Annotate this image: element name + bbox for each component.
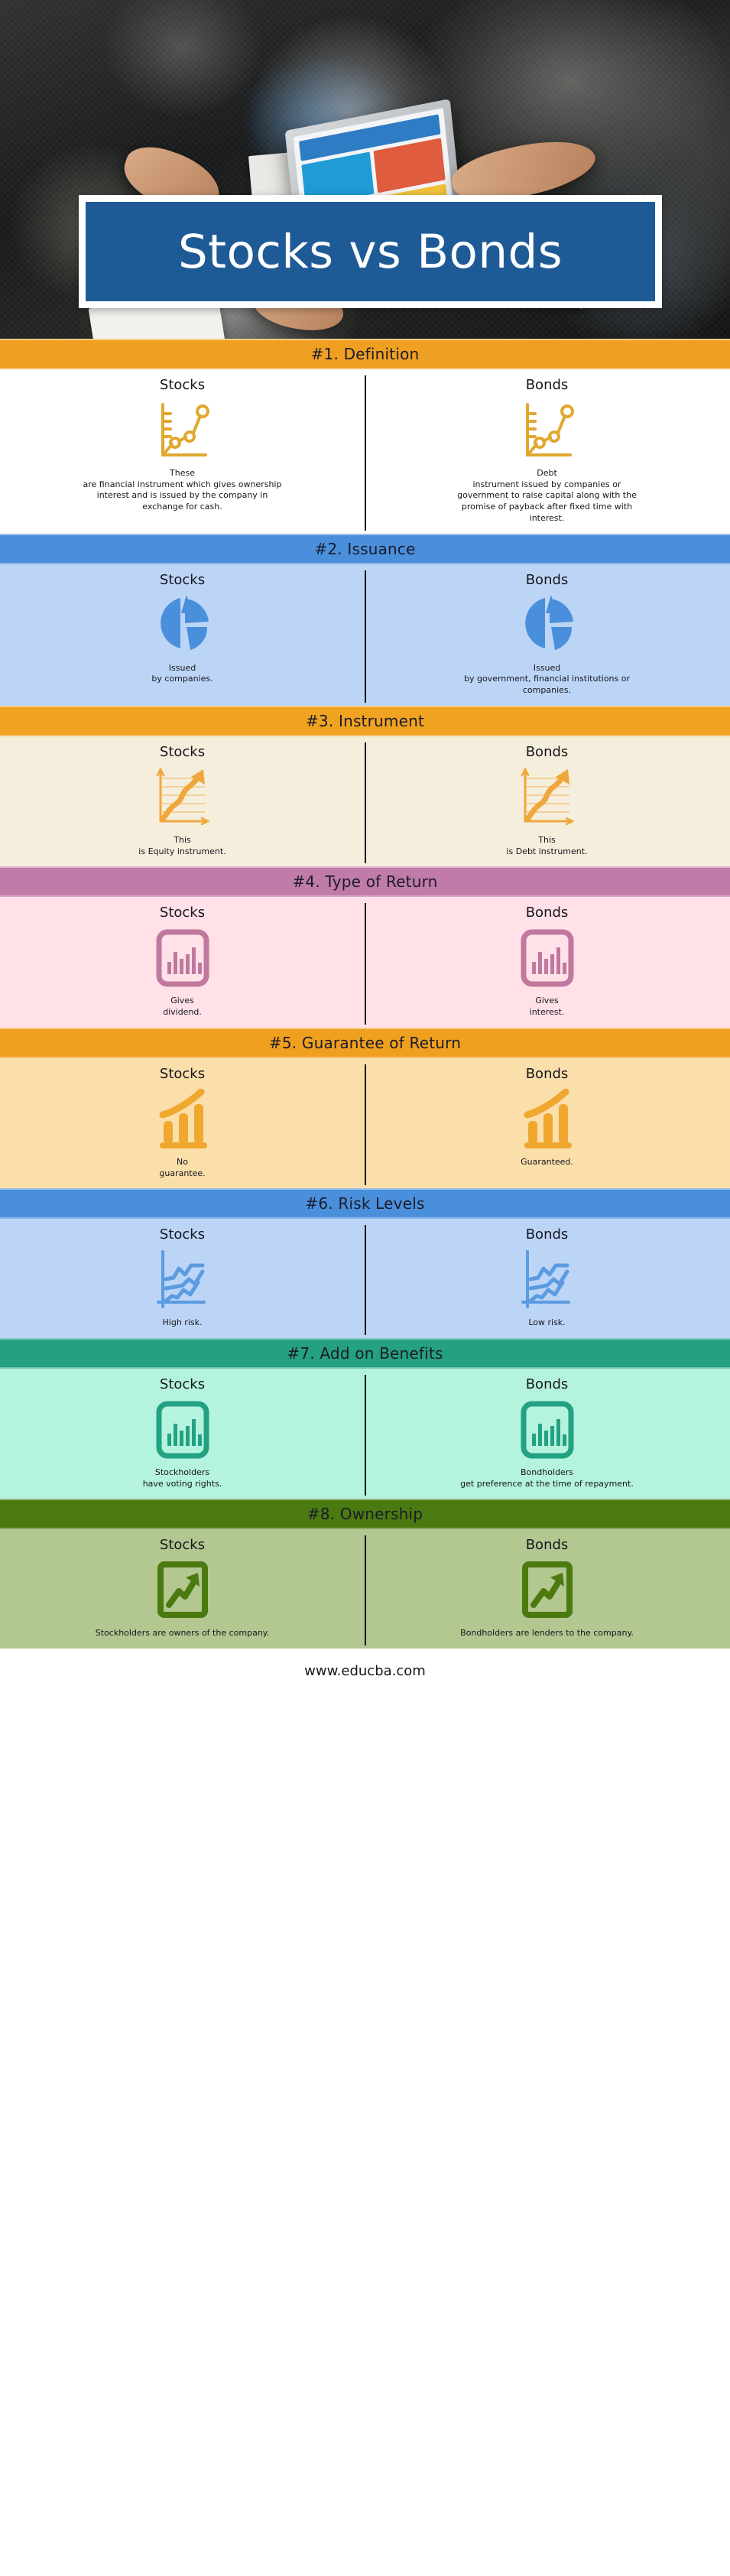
description-body: is Equity instrument. bbox=[138, 846, 225, 856]
description-lead: Debt bbox=[448, 468, 647, 479]
section-body: Stocks Thisis Equity instrument.Bonds Th… bbox=[0, 736, 730, 866]
comparison-column-bonds: Bonds Thisis Debt instrument. bbox=[365, 744, 729, 857]
pie-chart-exploded-icon bbox=[517, 593, 578, 658]
section-header-band: #6. Risk Levels bbox=[0, 1188, 730, 1219]
section-header-label: #3. Instrument bbox=[306, 712, 424, 730]
column-title: Bonds bbox=[526, 1537, 569, 1553]
section-header-label: #6. Risk Levels bbox=[305, 1194, 424, 1213]
section-s7: #7. Add on BenefitsStocks Stockholdersha… bbox=[0, 1338, 730, 1499]
section-s2: #2. IssuanceStocks Issuedby companies.Bo… bbox=[0, 534, 730, 706]
section-body: Stocks Givesdividend.Bonds Givesinterest… bbox=[0, 897, 730, 1027]
center-divider bbox=[365, 742, 366, 863]
section-body: Stocks Noguarantee.Bonds Guaranteed. bbox=[0, 1058, 730, 1188]
growth-arrow-grid-icon bbox=[153, 765, 213, 830]
comparison-column-bonds: Bonds Bondholders are lenders to the com… bbox=[365, 1537, 729, 1639]
section-header-label: #7. Add on Benefits bbox=[287, 1344, 443, 1363]
column-title: Bonds bbox=[526, 572, 569, 588]
sections-container: #1. DefinitionStocks Theseare financial … bbox=[0, 339, 730, 1649]
column-title: Bonds bbox=[526, 905, 569, 921]
section-s5: #5. Guarantee of ReturnStocks Noguarante… bbox=[0, 1028, 730, 1188]
column-title: Bonds bbox=[526, 377, 569, 393]
page-title: Stocks vs Bonds bbox=[178, 229, 563, 275]
center-divider bbox=[365, 903, 366, 1024]
comparison-column-stocks: Stocks Noguarantee. bbox=[0, 1066, 365, 1179]
section-body: Stocks Issuedby companies.Bonds Issuedby… bbox=[0, 564, 730, 706]
section-body: Stocks Stockholdershave voting rights.Bo… bbox=[0, 1369, 730, 1499]
line-chart-points-icon bbox=[520, 400, 575, 461]
pie-chart-exploded-icon bbox=[517, 593, 578, 658]
description-lead: Issued bbox=[448, 663, 647, 674]
growth-arrow-grid-icon bbox=[517, 765, 577, 830]
footer-url: www.educba.com bbox=[304, 1663, 426, 1679]
description-body: instrument issued by companies or govern… bbox=[457, 479, 637, 523]
framed-bar-chart-icon bbox=[154, 928, 211, 988]
description-body: High risk. bbox=[163, 1317, 203, 1327]
description-body: are financial instrument which gives own… bbox=[83, 479, 282, 512]
comparison-column-bonds: Bonds Low risk. bbox=[365, 1226, 729, 1329]
comparison-column-bonds: Bonds Issuedby government, financial ins… bbox=[365, 572, 729, 697]
description-body: guarantee. bbox=[159, 1168, 205, 1178]
comparison-column-bonds: Bonds Debtinstrument issued by companies… bbox=[365, 377, 729, 525]
column-description: Noguarantee. bbox=[159, 1157, 205, 1179]
column-title: Stocks bbox=[160, 1537, 205, 1553]
framed-trend-arrow-icon bbox=[520, 1558, 575, 1623]
column-title: Stocks bbox=[160, 1226, 205, 1243]
column-description: Givesdividend. bbox=[163, 996, 202, 1018]
rising-bars-curve-icon bbox=[518, 1089, 576, 1150]
framed-bar-chart-icon bbox=[519, 925, 576, 991]
line-chart-points-icon bbox=[520, 398, 575, 463]
title-frame: Stocks vs Bonds bbox=[79, 195, 662, 308]
section-header-band: #5. Guarantee of Return bbox=[0, 1028, 730, 1058]
column-description: Givesinterest. bbox=[530, 996, 565, 1018]
comparison-column-stocks: Stocks Theseare financial instrument whi… bbox=[0, 377, 365, 525]
column-title: Bonds bbox=[526, 744, 569, 760]
column-description: High risk. bbox=[163, 1317, 203, 1329]
framed-bar-chart-icon bbox=[519, 1397, 576, 1463]
description-lead: This bbox=[138, 835, 225, 846]
framed-bar-chart-icon bbox=[154, 1400, 211, 1460]
description-lead: Gives bbox=[530, 996, 565, 1007]
rising-bars-curve-icon bbox=[154, 1087, 212, 1152]
description-body: interest. bbox=[530, 1007, 565, 1017]
section-s1: #1. DefinitionStocks Theseare financial … bbox=[0, 339, 730, 534]
column-title: Bonds bbox=[526, 1066, 569, 1082]
comparison-column-bonds: Bonds Guaranteed. bbox=[365, 1066, 729, 1179]
section-body: Stocks Stockholders are owners of the co… bbox=[0, 1529, 730, 1649]
center-divider bbox=[365, 570, 366, 703]
section-header-band: #4. Type of Return bbox=[0, 866, 730, 897]
section-header-label: #2. Issuance bbox=[314, 540, 415, 558]
framed-bar-chart-icon bbox=[519, 1400, 576, 1460]
section-header-band: #2. Issuance bbox=[0, 534, 730, 564]
comparison-column-bonds: Bonds Givesinterest. bbox=[365, 905, 729, 1018]
column-title: Stocks bbox=[160, 1376, 205, 1392]
framed-bar-chart-icon bbox=[154, 1397, 211, 1463]
column-description: Bondholders are lenders to the company. bbox=[460, 1628, 634, 1639]
multi-line-volatility-icon bbox=[154, 1249, 212, 1311]
pie-chart-exploded-icon bbox=[152, 593, 213, 658]
section-s4: #4. Type of ReturnStocks Givesdividend.B… bbox=[0, 866, 730, 1027]
multi-line-volatility-icon bbox=[154, 1247, 212, 1313]
multi-line-volatility-icon bbox=[518, 1249, 576, 1311]
growth-arrow-grid-icon bbox=[153, 766, 213, 829]
comparison-column-bonds: Bonds Bondholdersget preference at the t… bbox=[365, 1376, 729, 1489]
column-description: Issuedby government, financial instituti… bbox=[448, 663, 647, 697]
multi-line-volatility-icon bbox=[518, 1247, 576, 1313]
column-description: Issuedby companies. bbox=[151, 663, 213, 685]
hero-banner: Stocks vs Bonds bbox=[0, 0, 730, 339]
footer: www.educba.com bbox=[0, 1649, 730, 1693]
description-lead: Issued bbox=[151, 663, 213, 674]
center-divider bbox=[365, 1375, 366, 1496]
column-title: Bonds bbox=[526, 1226, 569, 1243]
section-header-band: #8. Ownership bbox=[0, 1499, 730, 1529]
comparison-column-stocks: Stocks Stockholders are owners of the co… bbox=[0, 1537, 365, 1639]
pie-chart-exploded-icon bbox=[152, 593, 213, 658]
description-body: Low risk. bbox=[528, 1317, 565, 1327]
rising-bars-curve-icon bbox=[154, 1089, 212, 1150]
center-divider bbox=[365, 1064, 366, 1185]
section-header-band: #3. Instrument bbox=[0, 706, 730, 736]
line-chart-points-icon bbox=[155, 400, 210, 461]
screen-tile bbox=[373, 138, 446, 193]
infographic-page: Stocks vs Bonds #1. DefinitionStocks The… bbox=[0, 0, 730, 1693]
description-body: is Debt instrument. bbox=[506, 846, 587, 856]
rising-bars-curve-icon bbox=[518, 1087, 576, 1152]
framed-trend-arrow-icon bbox=[520, 1561, 575, 1620]
comparison-column-stocks: Stocks Issuedby companies. bbox=[0, 572, 365, 697]
description-body: get preference at the time of repayment. bbox=[460, 1479, 634, 1489]
column-description: Guaranteed. bbox=[521, 1157, 573, 1168]
framed-bar-chart-icon bbox=[519, 928, 576, 988]
description-body: Bondholders are lenders to the company. bbox=[460, 1628, 634, 1638]
description-lead: These bbox=[83, 468, 282, 479]
column-title: Bonds bbox=[526, 1376, 569, 1392]
section-header-band: #7. Add on Benefits bbox=[0, 1338, 730, 1369]
comparison-column-stocks: Stocks Givesdividend. bbox=[0, 905, 365, 1018]
column-description: Stockholdershave voting rights. bbox=[143, 1467, 222, 1489]
column-description: Stockholders are owners of the company. bbox=[96, 1628, 269, 1639]
column-description: Bondholdersget preference at the time of… bbox=[460, 1467, 634, 1489]
section-header-label: #1. Definition bbox=[311, 345, 420, 363]
description-body: by government, financial institutions or… bbox=[464, 674, 630, 695]
center-divider bbox=[365, 1535, 366, 1645]
description-lead: Stockholders bbox=[143, 1467, 222, 1479]
column-description: Thisis Debt instrument. bbox=[506, 835, 587, 857]
section-s8: #8. OwnershipStocks Stockholders are own… bbox=[0, 1499, 730, 1649]
section-header-label: #8. Ownership bbox=[307, 1505, 423, 1523]
description-body: by companies. bbox=[151, 674, 213, 684]
center-divider bbox=[365, 375, 366, 531]
section-body: Stocks High risk.Bonds Low risk. bbox=[0, 1219, 730, 1338]
framed-trend-arrow-icon bbox=[155, 1558, 210, 1623]
comparison-column-stocks: Stocks Thisis Equity instrument. bbox=[0, 744, 365, 857]
comparison-column-stocks: Stocks High risk. bbox=[0, 1226, 365, 1329]
framed-bar-chart-icon bbox=[154, 925, 211, 991]
description-lead: This bbox=[506, 835, 587, 846]
column-description: Debtinstrument issued by companies or go… bbox=[448, 468, 647, 525]
section-header-label: #4. Type of Return bbox=[292, 872, 437, 891]
column-description: Theseare financial instrument which give… bbox=[83, 468, 282, 513]
section-body: Stocks Theseare financial instrument whi… bbox=[0, 369, 730, 534]
section-header-band: #1. Definition bbox=[0, 339, 730, 369]
section-s6: #6. Risk LevelsStocks High risk.Bonds Lo… bbox=[0, 1188, 730, 1338]
line-chart-points-icon bbox=[155, 398, 210, 463]
description-lead: No bbox=[159, 1157, 205, 1168]
comparison-column-stocks: Stocks Stockholdershave voting rights. bbox=[0, 1376, 365, 1489]
framed-trend-arrow-icon bbox=[155, 1561, 210, 1620]
column-title: Stocks bbox=[160, 905, 205, 921]
section-s3: #3. InstrumentStocks Thisis Equity instr… bbox=[0, 706, 730, 866]
growth-arrow-grid-icon bbox=[517, 766, 577, 829]
description-body: Guaranteed. bbox=[521, 1157, 573, 1167]
column-description: Low risk. bbox=[528, 1317, 565, 1329]
column-title: Stocks bbox=[160, 744, 205, 760]
description-body: have voting rights. bbox=[143, 1479, 222, 1489]
description-lead: Bondholders bbox=[460, 1467, 634, 1479]
column-title: Stocks bbox=[160, 572, 205, 588]
column-description: Thisis Equity instrument. bbox=[138, 835, 225, 857]
column-title: Stocks bbox=[160, 1066, 205, 1082]
description-body: dividend. bbox=[163, 1007, 202, 1017]
description-body: Stockholders are owners of the company. bbox=[96, 1628, 269, 1638]
description-lead: Gives bbox=[163, 996, 202, 1007]
section-header-label: #5. Guarantee of Return bbox=[269, 1034, 461, 1052]
column-title: Stocks bbox=[160, 377, 205, 393]
title-band: Stocks vs Bonds bbox=[86, 202, 655, 301]
center-divider bbox=[365, 1225, 366, 1335]
